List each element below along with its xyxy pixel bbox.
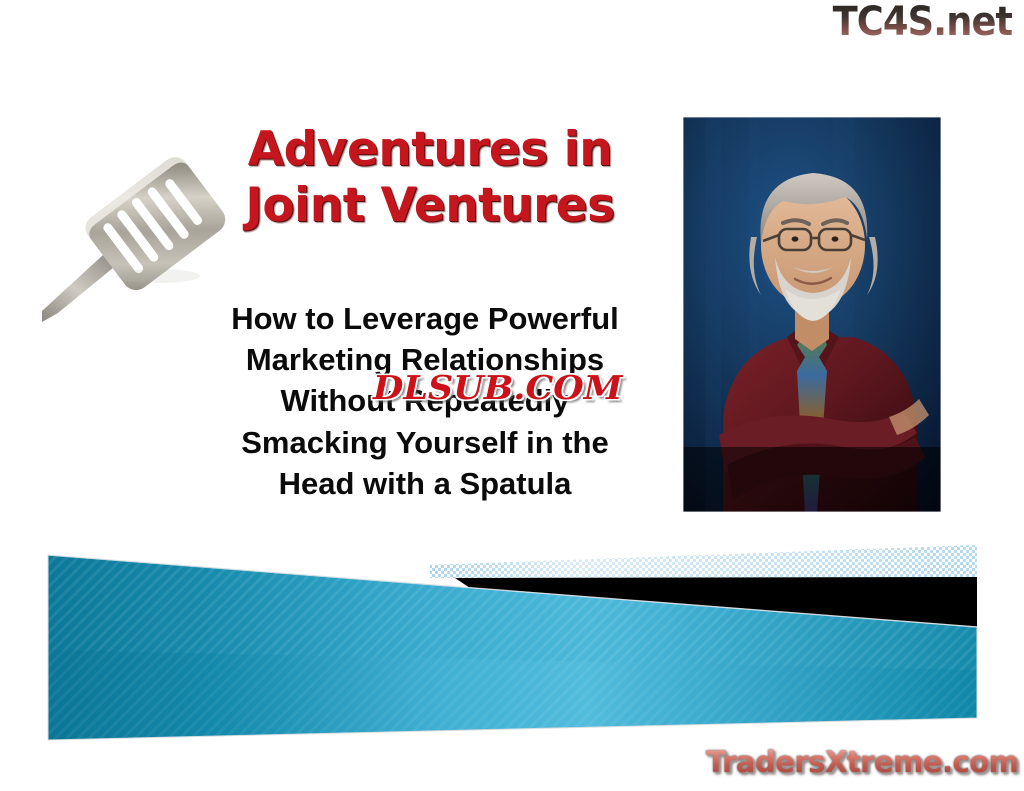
brand-watermark-tc4s: TC4S.net bbox=[832, 2, 1012, 42]
portrait-graphic bbox=[683, 117, 941, 512]
subtitle-line-5: Head with a Spatula bbox=[180, 463, 670, 504]
page-title: Adventures in Joint Ventures bbox=[190, 122, 670, 235]
title-line-2: Joint Ventures bbox=[190, 178, 670, 234]
banner-graphic bbox=[0, 520, 1024, 765]
subtitle-line-1: How to Leverage Powerful bbox=[180, 298, 670, 339]
footer-watermark-tradersxtreme: TradersXtreme.com bbox=[706, 748, 1018, 777]
decorative-banner bbox=[0, 520, 1024, 765]
subtitle-line-4: Smacking Yourself in the bbox=[180, 422, 670, 463]
title-line-1: Adventures in bbox=[190, 122, 670, 178]
speaker-portrait-photo bbox=[683, 117, 941, 512]
presentation-slide: TC4S.net bbox=[0, 0, 1024, 791]
overlay-watermark-dlsub: DLSUB.COM bbox=[373, 371, 622, 404]
